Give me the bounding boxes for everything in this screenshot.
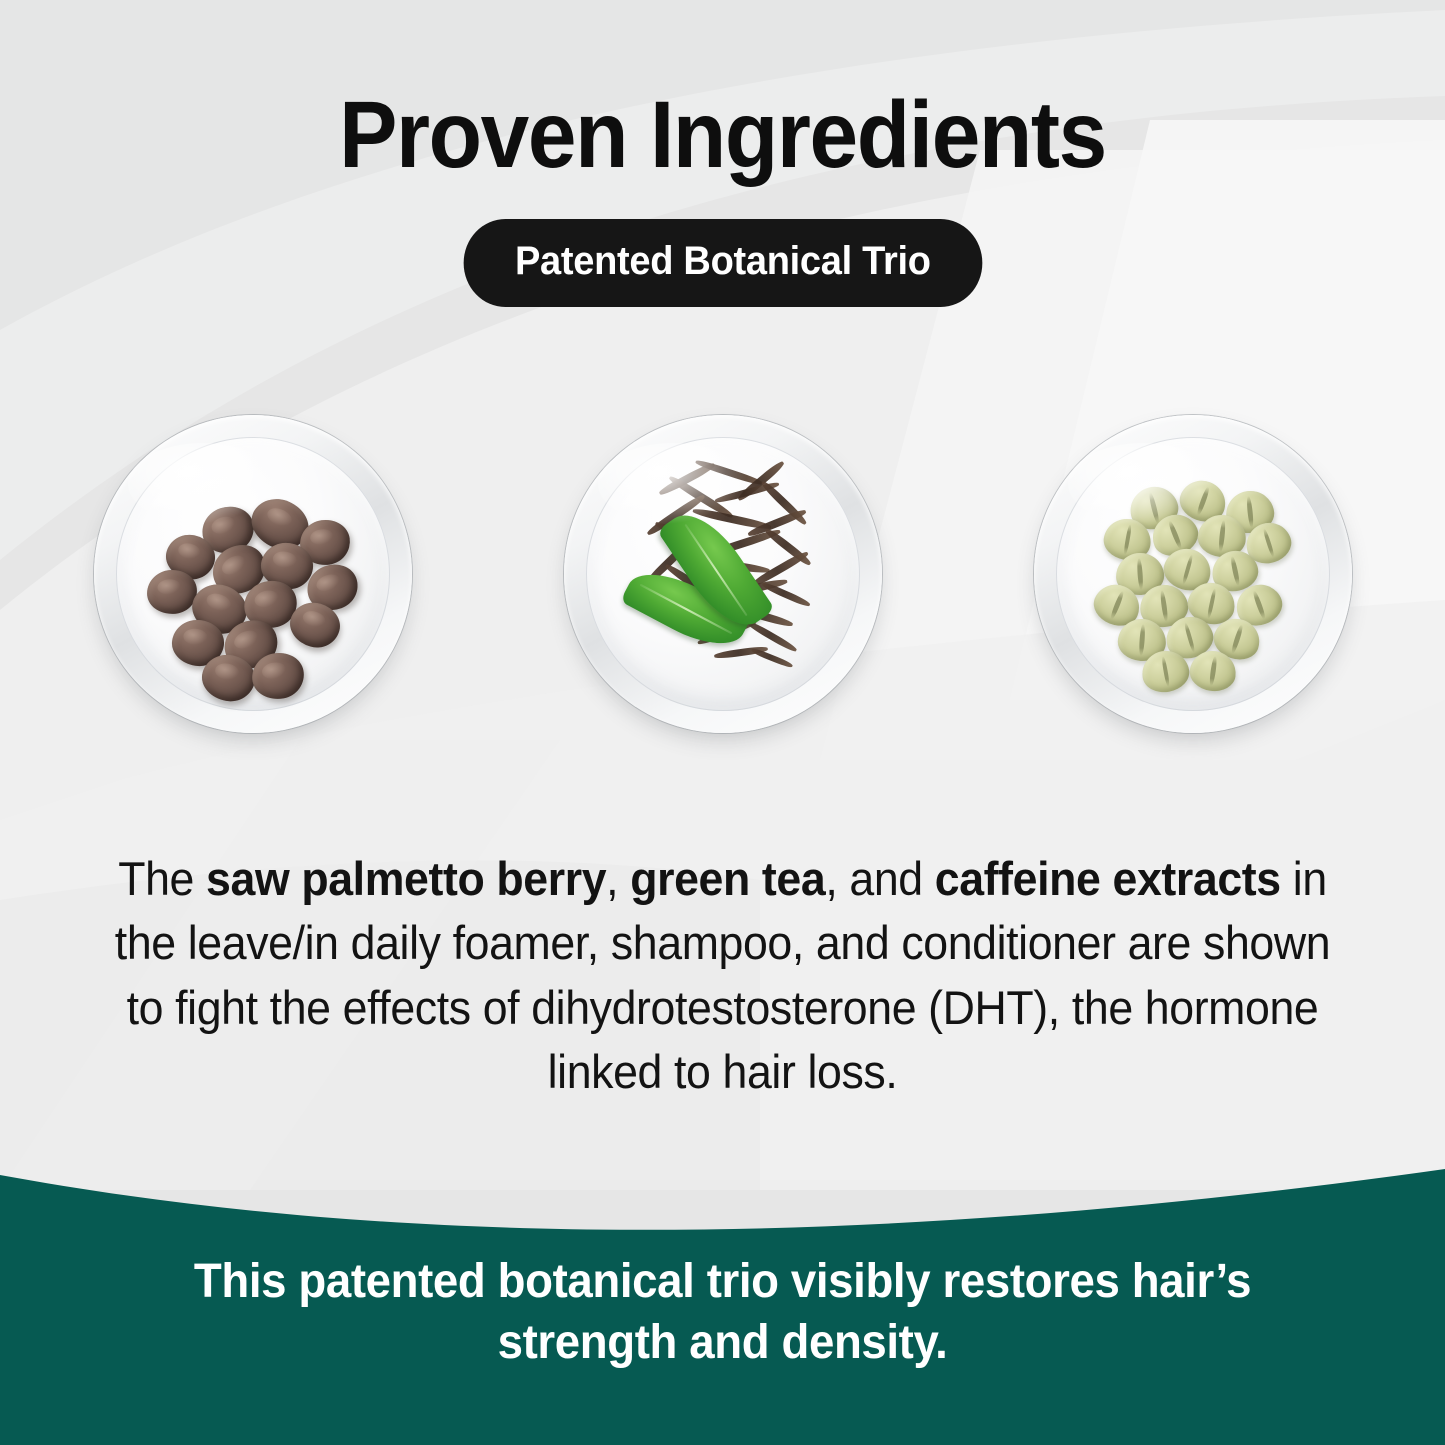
body-part-2: ,: [606, 852, 630, 905]
body-bold-caffeine-extracts: caffeine extracts: [935, 852, 1281, 905]
body-part-3: , and: [825, 852, 934, 905]
ingredient-dish-row: [0, 415, 1445, 735]
ingredient-dish-saw-palmetto-berry: [94, 415, 412, 733]
footer-headline: This patented botanical trio visibly res…: [124, 1251, 1322, 1374]
fresh-tea-leaves: [564, 415, 882, 733]
badge-patented-botanical-trio: Patented Botanical Trio: [463, 219, 981, 307]
saw-palmetto-berries: [94, 415, 412, 733]
page-title: Proven Ingredients: [58, 0, 1387, 183]
header: Proven Ingredients Patented Botanical Tr…: [0, 0, 1445, 307]
body-bold-saw-palmetto: saw palmetto berry: [206, 852, 606, 905]
footer-banner: This patented botanical trio visibly res…: [0, 1145, 1445, 1445]
green-coffee-beans: [1034, 415, 1352, 733]
ingredient-dish-green-tea: [564, 415, 882, 733]
ingredient-description: The saw palmetto berry, green tea, and c…: [105, 847, 1341, 1105]
body-part-1: The: [118, 852, 206, 905]
ingredient-dish-green-coffee-bean: [1034, 415, 1352, 733]
body-bold-green-tea: green tea: [630, 852, 825, 905]
